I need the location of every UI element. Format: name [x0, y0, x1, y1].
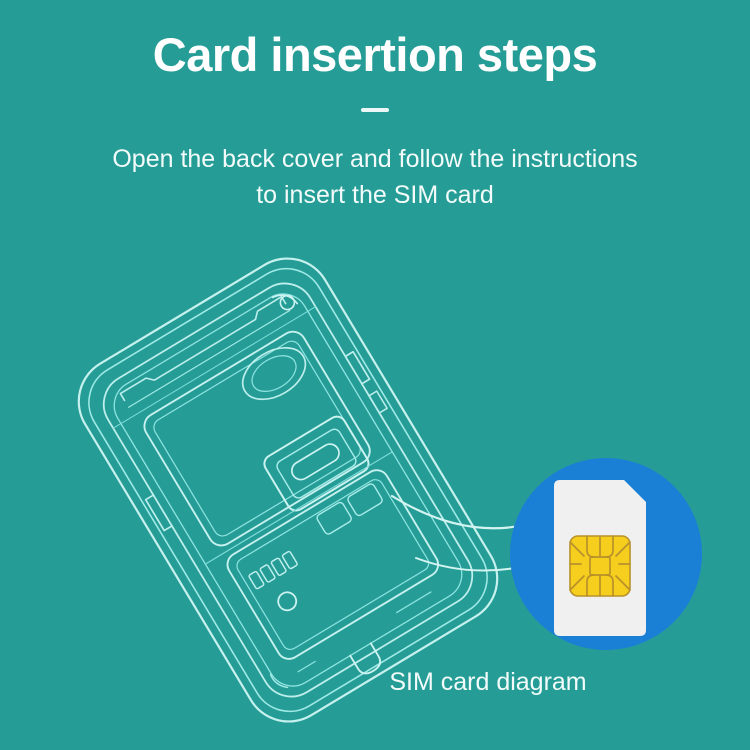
sim-badge [510, 458, 702, 650]
page-title: Card insertion steps [0, 0, 750, 82]
page-subtitle: Open the back cover and follow the instr… [0, 120, 750, 213]
sim-chip-contacts [570, 536, 630, 596]
sim-card-graphic [550, 478, 650, 638]
header-block: Card insertion steps Open the back cover… [0, 0, 750, 213]
subtitle-line-1: Open the back cover and follow the instr… [0, 142, 750, 178]
sim-caption-label: SIM card diagram [389, 668, 586, 697]
divider-wrap [0, 100, 750, 120]
divider-rule [361, 108, 389, 112]
poster-root: Card insertion steps Open the back cover… [0, 0, 750, 750]
sim-caption-row: SIM card diagram [0, 668, 750, 697]
subtitle-line-2: to insert the SIM card [0, 178, 750, 214]
